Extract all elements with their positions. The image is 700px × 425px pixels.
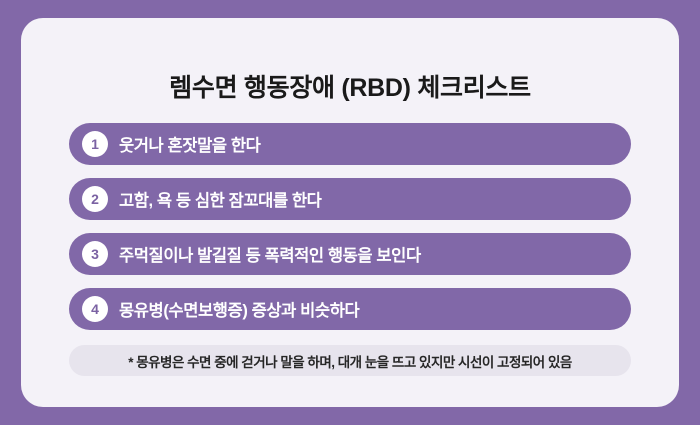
- checklist-items: 1 웃거나 혼잣말을 한다 2 고함, 욕 등 심한 잠꼬대를 한다 3 주먹질…: [69, 123, 631, 343]
- list-item[interactable]: 4 몽유병(수면보행증) 증상과 비슷하다: [69, 288, 631, 330]
- item-label: 웃거나 혼잣말을 한다: [119, 132, 260, 156]
- list-item[interactable]: 1 웃거나 혼잣말을 한다: [69, 123, 631, 165]
- page-title: 렘수면 행동장애 (RBD) 체크리스트: [21, 68, 679, 104]
- item-number-badge: 4: [82, 296, 108, 322]
- item-number-badge: 1: [82, 131, 108, 157]
- item-label: 고함, 욕 등 심한 잠꼬대를 한다: [119, 187, 321, 211]
- footnote-text: * 몽유병은 수면 중에 걷거나 말을 하며, 대개 눈을 뜨고 있지만 시선이…: [128, 351, 572, 371]
- checklist-infographic: 렘수면 행동장애 (RBD) 체크리스트 1 웃거나 혼잣말을 한다 2 고함,…: [0, 0, 700, 425]
- footnote-box: * 몽유병은 수면 중에 걷거나 말을 하며, 대개 눈을 뜨고 있지만 시선이…: [69, 345, 631, 376]
- checklist-card: 렘수면 행동장애 (RBD) 체크리스트 1 웃거나 혼잣말을 한다 2 고함,…: [21, 18, 679, 407]
- list-item[interactable]: 3 주먹질이나 발길질 등 폭력적인 행동을 보인다: [69, 233, 631, 275]
- item-number-badge: 3: [82, 241, 108, 267]
- item-number-badge: 2: [82, 186, 108, 212]
- list-item[interactable]: 2 고함, 욕 등 심한 잠꼬대를 한다: [69, 178, 631, 220]
- item-label: 몽유병(수면보행증) 증상과 비슷하다: [119, 297, 359, 321]
- item-label: 주먹질이나 발길질 등 폭력적인 행동을 보인다: [119, 242, 421, 266]
